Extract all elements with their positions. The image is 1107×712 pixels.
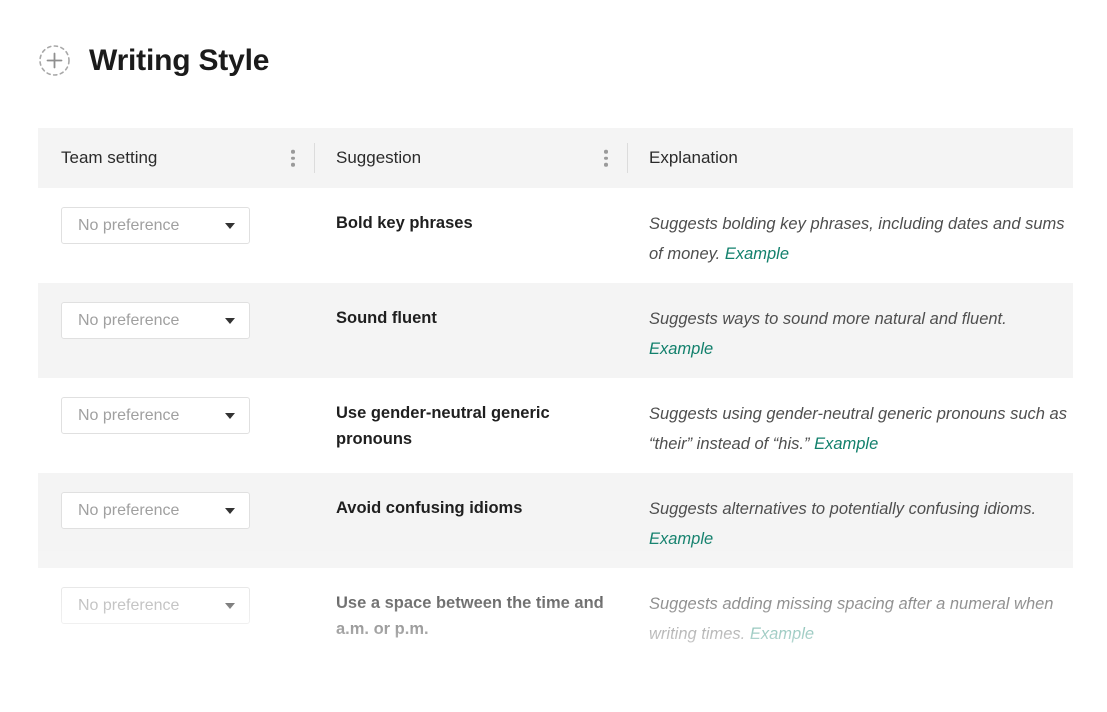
- example-link[interactable]: Example: [814, 435, 878, 453]
- cell-team-setting: No preference: [38, 283, 315, 339]
- dropdown-value: No preference: [78, 502, 179, 520]
- example-link[interactable]: Example: [649, 340, 713, 358]
- team-setting-dropdown[interactable]: No preference: [61, 397, 250, 434]
- suggestion-label: Sound fluent: [336, 305, 611, 331]
- column-header-label: Suggestion: [336, 148, 421, 168]
- dashed-circle-plus-icon[interactable]: [38, 44, 71, 77]
- suggestion-label: Use gender-neutral generic pronouns: [336, 400, 611, 452]
- chevron-down-icon: [225, 508, 235, 514]
- explanation-text: Suggests ways to sound more natural and …: [649, 304, 1073, 364]
- explanation-body: Suggests ways to sound more natural and …: [649, 310, 1007, 328]
- table-row: No preference Use a space between the ti…: [38, 568, 1073, 684]
- cell-explanation: Suggests alternatives to potentially con…: [628, 473, 1073, 554]
- chevron-down-icon: [225, 223, 235, 229]
- dropdown-value: No preference: [78, 312, 179, 330]
- cell-team-setting: No preference: [38, 473, 315, 529]
- explanation-text: Suggests using gender-neutral generic pr…: [649, 399, 1073, 459]
- dropdown-value: No preference: [78, 597, 179, 615]
- table-row: No preference Use gender-neutral generic…: [38, 378, 1073, 473]
- page-title: Writing Style: [89, 46, 269, 76]
- explanation-text: Suggests alternatives to potentially con…: [649, 494, 1073, 554]
- cell-team-setting: No preference: [38, 378, 315, 434]
- example-link[interactable]: Example: [649, 530, 713, 548]
- writing-style-table: Team setting Suggestion Explanation No p…: [38, 128, 1073, 684]
- page-header: Writing Style: [38, 44, 269, 77]
- table-row: No preference Bold key phrases Suggests …: [38, 188, 1073, 283]
- kebab-menu-icon[interactable]: [604, 150, 608, 167]
- chevron-down-icon: [225, 318, 235, 324]
- cell-explanation: Suggests adding missing spacing after a …: [628, 568, 1073, 649]
- cell-suggestion: Bold key phrases: [315, 188, 628, 236]
- cell-team-setting: No preference: [38, 568, 315, 624]
- team-setting-dropdown[interactable]: No preference: [61, 302, 250, 339]
- example-link[interactable]: Example: [750, 625, 814, 643]
- dropdown-value: No preference: [78, 407, 179, 425]
- cell-suggestion: Use gender-neutral generic pronouns: [315, 378, 628, 452]
- chevron-down-icon: [225, 413, 235, 419]
- table-header-row: Team setting Suggestion Explanation: [38, 128, 1073, 188]
- explanation-text: Suggests bolding key phrases, including …: [649, 209, 1073, 269]
- explanation-body: Suggests adding missing spacing after a …: [649, 595, 1053, 643]
- column-header-explanation: Explanation: [628, 128, 1073, 188]
- explanation-body: Suggests bolding key phrases, including …: [649, 215, 1065, 263]
- team-setting-dropdown[interactable]: No preference: [61, 207, 250, 244]
- table-row: No preference Avoid confusing idioms Sug…: [38, 473, 1073, 568]
- example-link[interactable]: Example: [725, 245, 789, 263]
- column-header-suggestion: Suggestion: [315, 128, 628, 188]
- suggestion-label: Avoid confusing idioms: [336, 495, 611, 521]
- column-header-team-setting: Team setting: [38, 128, 315, 188]
- column-header-label: Team setting: [61, 148, 157, 168]
- cell-suggestion: Sound fluent: [315, 283, 628, 331]
- team-setting-dropdown[interactable]: No preference: [61, 587, 250, 624]
- cell-explanation: Suggests ways to sound more natural and …: [628, 283, 1073, 364]
- chevron-down-icon: [225, 603, 235, 609]
- explanation-body: Suggests alternatives to potentially con…: [649, 500, 1036, 518]
- column-header-label: Explanation: [649, 148, 738, 168]
- explanation-text: Suggests adding missing spacing after a …: [649, 589, 1073, 649]
- table-row: No preference Sound fluent Suggests ways…: [38, 283, 1073, 378]
- cell-suggestion: Use a space between the time and a.m. or…: [315, 568, 628, 642]
- team-setting-dropdown[interactable]: No preference: [61, 492, 250, 529]
- cell-team-setting: No preference: [38, 188, 315, 244]
- cell-suggestion: Avoid confusing idioms: [315, 473, 628, 521]
- dropdown-value: No preference: [78, 217, 179, 235]
- cell-explanation: Suggests using gender-neutral generic pr…: [628, 378, 1073, 459]
- cell-explanation: Suggests bolding key phrases, including …: [628, 188, 1073, 269]
- writing-style-page: Writing Style Team setting Suggestion Ex…: [0, 0, 1107, 712]
- suggestion-label: Use a space between the time and a.m. or…: [336, 590, 611, 642]
- suggestion-label: Bold key phrases: [336, 210, 611, 236]
- kebab-menu-icon[interactable]: [291, 150, 295, 167]
